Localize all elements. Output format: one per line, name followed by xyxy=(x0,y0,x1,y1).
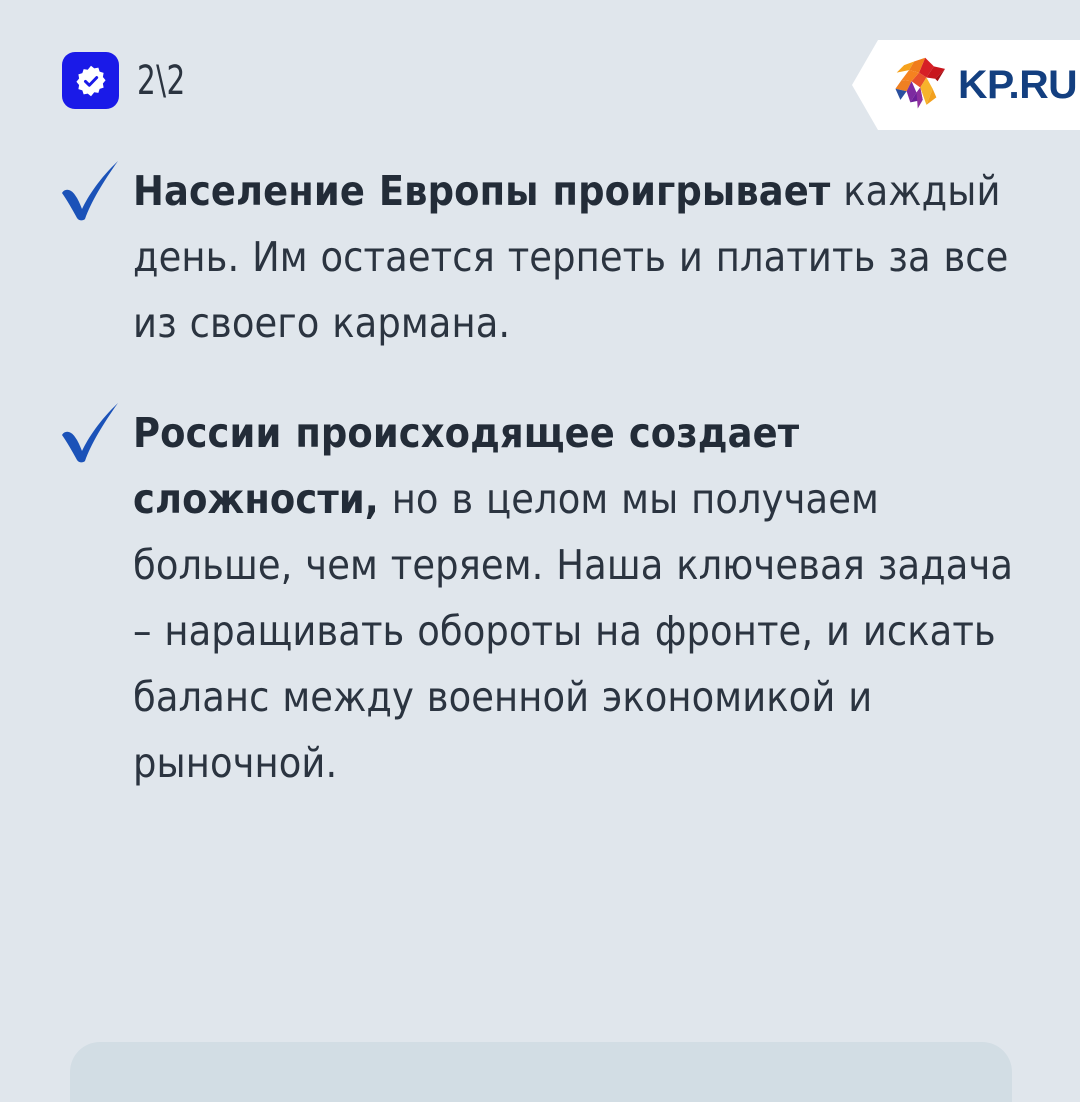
header: 2\2 KP.RU xyxy=(0,0,1080,140)
blue-check-icon xyxy=(58,160,124,222)
bullet-list: Население Европы проигрывает каждый день… xyxy=(0,158,1080,840)
kp-swallow-icon xyxy=(888,54,950,116)
blue-check-icon xyxy=(58,402,124,464)
bullet-text-bold: Население Европы проигрывает xyxy=(133,167,830,215)
verified-badge-icon xyxy=(62,52,119,109)
kp-wordmark: KP.RU xyxy=(958,63,1077,108)
next-slide-panel[interactable] xyxy=(70,1042,1012,1102)
slide-counter-text: 2\2 xyxy=(137,61,186,101)
kp-logo-tag[interactable]: KP.RU xyxy=(852,40,1080,130)
bullet-text: России происходящее создает сложности, н… xyxy=(133,400,1022,796)
bullet-text: Население Европы проигрывает каждый день… xyxy=(133,158,1022,356)
bullet-item: России происходящее создает сложности, н… xyxy=(0,400,1080,796)
bullet-item: Население Европы проигрывает каждый день… xyxy=(0,158,1080,356)
slide-canvas: 2\2 KP.RU xyxy=(0,0,1080,1080)
slide-counter-group: 2\2 xyxy=(62,52,196,109)
